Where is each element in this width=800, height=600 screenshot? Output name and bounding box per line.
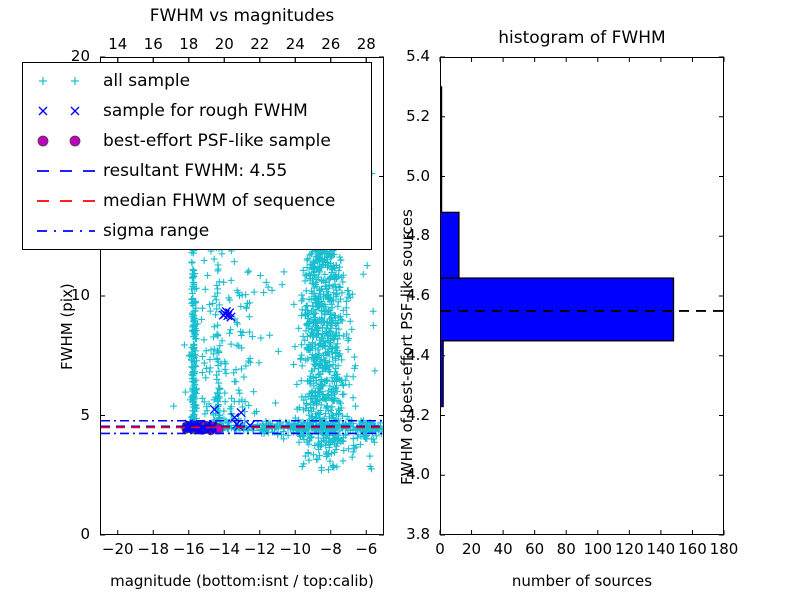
scatter-xlabel: magnitude (bottom:isnt / top:calib) [100, 572, 384, 590]
legend-marker-cross-icon [29, 96, 103, 126]
legend-marker-dashdot-line-icon [29, 216, 103, 246]
scatter-ylabel: FWHM (pix) [58, 283, 76, 370]
legend-box: all samplesample for rough FWHMbest-effo… [22, 62, 372, 250]
legend-item-4[interactable]: median FHWM of sequence [29, 186, 371, 216]
legend-item-3[interactable]: resultant FWHM: 4.55 [29, 156, 371, 186]
legend-item-5[interactable]: sigma range [29, 216, 371, 246]
hist-ytick-4: 4.6 [364, 286, 430, 304]
histogram-plot-frame [440, 57, 724, 535]
histogram-ylabel: FWHM of best-effort PSF-like sources [398, 209, 416, 485]
legend-marker-dashed-line-icon [29, 156, 103, 186]
legend-item-2[interactable]: best-effort PSF-like sample [29, 126, 371, 156]
legend-marker-plus-icon [29, 66, 103, 96]
hist-ytick-3: 4.4 [364, 346, 430, 364]
hist-ytick-1: 4.0 [364, 465, 430, 483]
legend-label: all sample [103, 71, 190, 91]
legend-label: best-effort PSF-like sample [103, 131, 331, 151]
legend-item-0[interactable]: all sample [29, 66, 371, 96]
scatter-ytick-2: 10 [24, 286, 90, 304]
legend-item-1[interactable]: sample for rough FWHM [29, 96, 371, 126]
hist-ytick-6: 5.0 [364, 167, 430, 185]
hist-ytick-8: 5.4 [364, 47, 430, 65]
legend-label: median FHWM of sequence [103, 191, 335, 211]
legend-marker-dashed-line-icon [29, 186, 103, 216]
legend-label: sample for rough FWHM [103, 101, 308, 121]
scatter-plot-title: FWHM vs magnitudes [100, 6, 384, 26]
legend-label: resultant FWHM: 4.55 [103, 161, 287, 181]
hist-xtick-9: 180 [684, 540, 764, 558]
figure-canvas: FWHM vs magnitudes 1416182022242628 0510… [0, 0, 800, 600]
hist-ytick-2: 4.2 [364, 406, 430, 424]
legend-marker-circle-icon [29, 126, 103, 156]
hist-ytick-5: 4.8 [364, 226, 430, 244]
legend-label: sigma range [103, 221, 209, 241]
hist-ytick-7: 5.2 [364, 107, 430, 125]
scatter-ytick-1: 5 [24, 406, 90, 424]
histogram-xlabel: number of sources [440, 572, 724, 590]
histogram-plot-title: histogram of FWHM [440, 28, 724, 48]
